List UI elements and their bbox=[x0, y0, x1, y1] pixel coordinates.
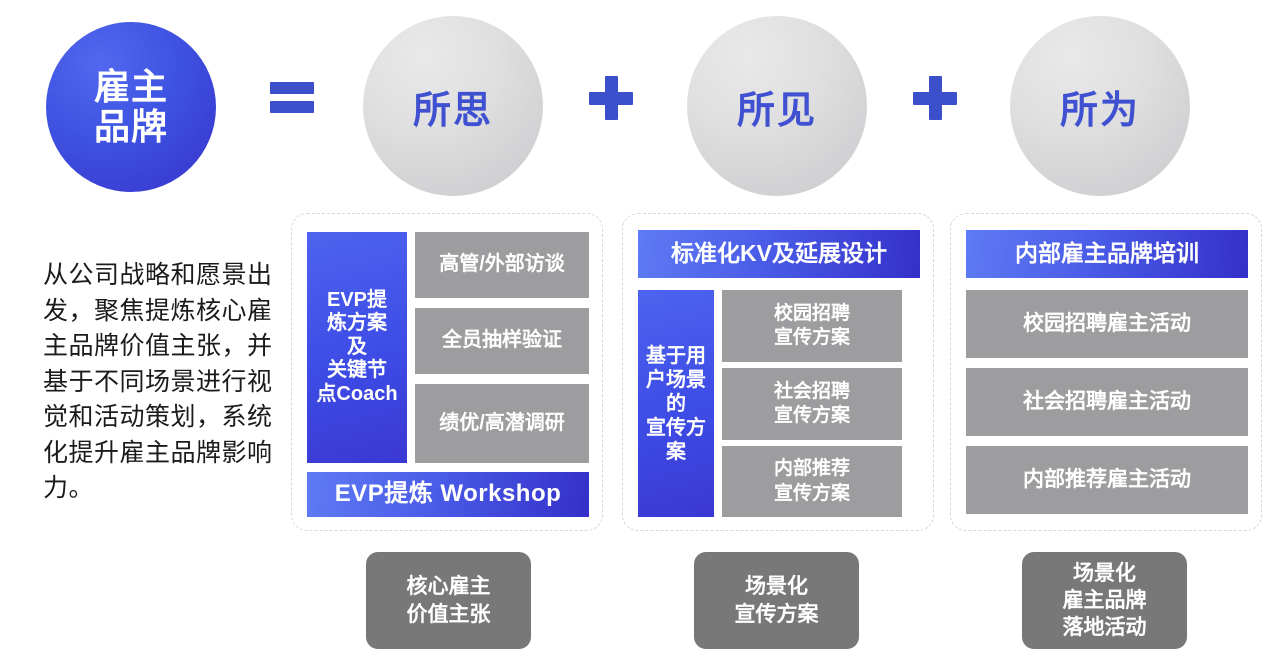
column3-header-bar: 内部雇主品牌培训 bbox=[966, 230, 1248, 278]
column2-item-3-line-1: 内部推荐 bbox=[774, 457, 850, 481]
footer-chip-core-evp: 核心雇主 价值主张 bbox=[366, 552, 531, 649]
term-circle-sojian-label: 所见 bbox=[737, 79, 817, 134]
footer-chip-scenario-activities-text: 场景化 雇主品牌 落地活动 bbox=[1063, 560, 1147, 642]
column1-side-label: EVP提 炼方案 及 关键节 点Coach bbox=[307, 232, 407, 463]
column2-side-line-2: 户场景 bbox=[646, 368, 706, 392]
column2-item-2-text: 社会招聘 宣传方案 bbox=[774, 380, 850, 429]
column2-item-1-text: 校园招聘 宣传方案 bbox=[774, 302, 850, 351]
column2-side-label-text: 基于用 户场景 的 宣传方 案 bbox=[646, 344, 706, 464]
term-circle-sisi-label: 所思 bbox=[413, 79, 493, 134]
footer-chip-3-line-2: 雇主品牌 bbox=[1063, 587, 1147, 614]
column2-item-3: 内部推荐 宣传方案 bbox=[722, 446, 902, 517]
employer-brand-line-1: 雇主 bbox=[94, 67, 168, 107]
column2-item-1-line-2: 宣传方案 bbox=[774, 326, 850, 350]
footer-chip-scenario-comms: 场景化 宣传方案 bbox=[694, 552, 859, 649]
equals-operator-icon: = bbox=[270, 82, 314, 112]
term-circle-suowei-label: 所为 bbox=[1060, 79, 1140, 134]
footer-chip-scenario-activities: 场景化 雇主品牌 落地活动 bbox=[1022, 552, 1187, 649]
column2-header-bar: 标准化KV及延展设计 bbox=[638, 230, 920, 278]
term-circle-sisi: 所思 bbox=[363, 16, 543, 196]
plus-operator-icon-2: + bbox=[913, 76, 957, 120]
column3-item-1: 校园招聘雇主活动 bbox=[966, 290, 1248, 358]
column3-item-2: 社会招聘雇主活动 bbox=[966, 368, 1248, 436]
column2-side-line-3: 的 bbox=[646, 392, 706, 416]
column1-side-line-3: 及 bbox=[316, 336, 397, 360]
equals-bar-top bbox=[270, 82, 314, 94]
term-circle-suowei: 所为 bbox=[1010, 16, 1190, 196]
plus-operator-icon-1: + bbox=[589, 76, 633, 120]
footer-chip-3-line-3: 落地活动 bbox=[1063, 614, 1147, 641]
plus2-vertical-bar bbox=[929, 76, 942, 120]
column1-item-1-label: 高管/外部访谈 bbox=[439, 252, 565, 278]
column1-item-3-label: 绩优/高潜调研 bbox=[439, 411, 565, 437]
column2-item-3-line-2: 宣传方案 bbox=[774, 482, 850, 506]
footer-chip-1-line-2: 价值主张 bbox=[407, 601, 491, 628]
column1-side-line-5: 点Coach bbox=[316, 383, 397, 407]
panel-seeing: 标准化KV及延展设计 基于用 户场景 的 宣传方 案 校园招聘 宣传方案 社会招… bbox=[622, 213, 934, 531]
employer-brand-circle-text: 雇主 品牌 bbox=[94, 67, 168, 148]
column2-side-line-1: 基于用 bbox=[646, 344, 706, 368]
diagram-canvas: 雇主 品牌 = 所思 + 所见 + 所为 从公司战略和愿景出发，聚焦提炼核心雇主… bbox=[0, 0, 1269, 669]
column2-item-1: 校园招聘 宣传方案 bbox=[722, 290, 902, 362]
footer-chip-core-evp-text: 核心雇主 价值主张 bbox=[407, 573, 491, 628]
column2-item-2-line-2: 宣传方案 bbox=[774, 404, 850, 428]
footer-chip-2-line-1: 场景化 bbox=[735, 573, 819, 600]
column1-item-2: 全员抽样验证 bbox=[415, 308, 589, 374]
column1-workshop-bar: EVP提炼 Workshop bbox=[307, 472, 589, 517]
column1-side-line-2: 炼方案 bbox=[316, 312, 397, 336]
column1-side-label-text: EVP提 炼方案 及 关键节 点Coach bbox=[316, 289, 397, 407]
column2-side-line-5: 案 bbox=[646, 440, 706, 464]
footer-chip-1-line-1: 核心雇主 bbox=[407, 573, 491, 600]
column2-header-label: 标准化KV及延展设计 bbox=[671, 240, 887, 268]
plus1-vertical-bar bbox=[605, 76, 618, 120]
equals-bar-bottom bbox=[270, 101, 314, 113]
footer-chip-scenario-comms-text: 场景化 宣传方案 bbox=[735, 573, 819, 628]
column2-item-3-text: 内部推荐 宣传方案 bbox=[774, 457, 850, 506]
column1-item-1: 高管/外部访谈 bbox=[415, 232, 589, 298]
column3-item-3-label: 内部推荐雇主活动 bbox=[1023, 467, 1191, 494]
column3-item-3: 内部推荐雇主活动 bbox=[966, 446, 1248, 514]
employer-brand-line-2: 品牌 bbox=[94, 107, 168, 147]
column2-item-1-line-1: 校园招聘 bbox=[774, 302, 850, 326]
column1-workshop-label: EVP提炼 Workshop bbox=[335, 480, 562, 509]
column2-item-2: 社会招聘 宣传方案 bbox=[722, 368, 902, 440]
panel-thinking: EVP提 炼方案 及 关键节 点Coach 高管/外部访谈 全员抽样验证 绩优/… bbox=[291, 213, 603, 531]
footer-chip-2-line-2: 宣传方案 bbox=[735, 601, 819, 628]
column3-header-label: 内部雇主品牌培训 bbox=[1015, 240, 1199, 268]
column1-item-2-label: 全员抽样验证 bbox=[442, 328, 562, 354]
footer-chip-3-line-1: 场景化 bbox=[1063, 560, 1147, 587]
column1-side-line-4: 关键节 bbox=[316, 359, 397, 383]
column2-side-label: 基于用 户场景 的 宣传方 案 bbox=[638, 290, 714, 517]
column3-item-1-label: 校园招聘雇主活动 bbox=[1023, 311, 1191, 338]
column3-item-2-label: 社会招聘雇主活动 bbox=[1023, 389, 1191, 416]
column1-side-line-1: EVP提 bbox=[316, 289, 397, 313]
term-circle-sojian: 所见 bbox=[687, 16, 867, 196]
column2-item-2-line-1: 社会招聘 bbox=[774, 380, 850, 404]
panel-doing: 内部雇主品牌培训 校园招聘雇主活动 社会招聘雇主活动 内部推荐雇主活动 bbox=[950, 213, 1262, 531]
employer-brand-circle: 雇主 品牌 bbox=[46, 22, 216, 192]
description-paragraph: 从公司战略和愿景出发，聚焦提炼核心雇主品牌价值主张，并基于不同场景进行视觉和活动… bbox=[43, 258, 275, 507]
column2-side-line-4: 宣传方 bbox=[646, 416, 706, 440]
column1-item-3: 绩优/高潜调研 bbox=[415, 384, 589, 463]
